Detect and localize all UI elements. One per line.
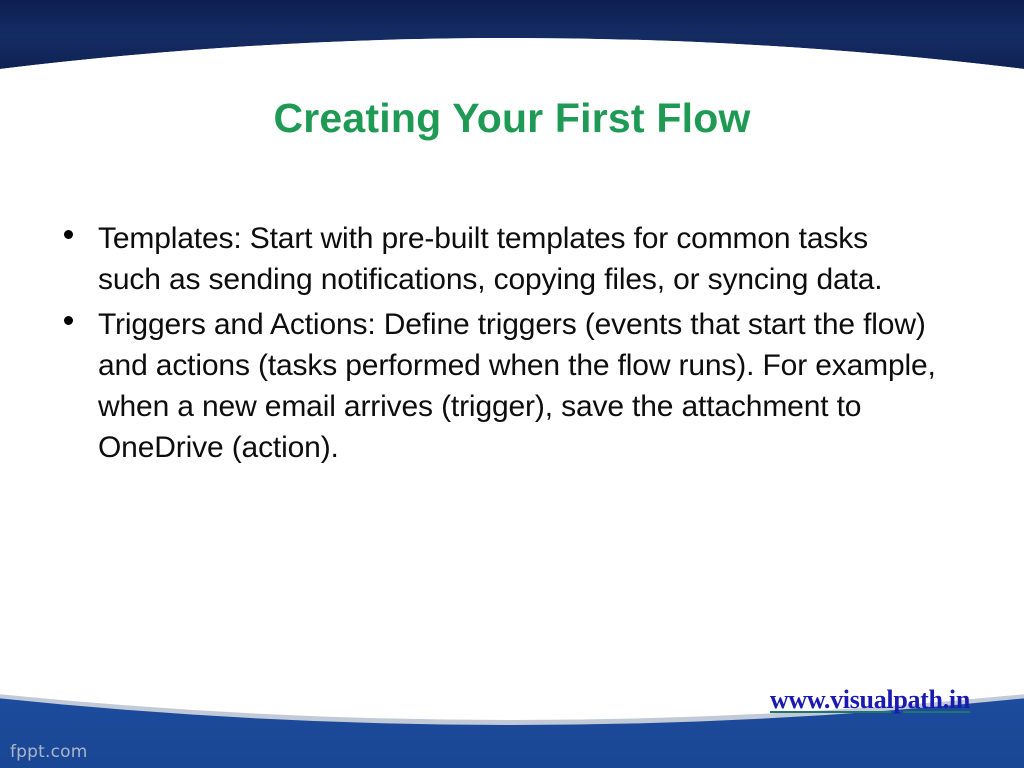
page-title: Creating Your First Flow bbox=[0, 95, 1024, 142]
bullet-dot-icon bbox=[64, 230, 73, 239]
slide-content: Creating Your First Flow Templates: Star… bbox=[0, 0, 1024, 768]
list-item-text: Templates: Start with pre-built template… bbox=[98, 218, 928, 300]
list-item: Templates: Start with pre-built template… bbox=[56, 218, 956, 300]
website-link[interactable]: www.visualpath.in bbox=[770, 685, 970, 715]
bullet-dot-icon bbox=[64, 316, 73, 325]
list-item: Triggers and Actions: Define triggers (e… bbox=[56, 304, 956, 468]
list-item-text: Triggers and Actions: Define triggers (e… bbox=[98, 304, 956, 468]
bullet-list: Templates: Start with pre-built template… bbox=[56, 218, 956, 472]
presentation-slide: fppt.com Creating Your First Flow Templa… bbox=[0, 0, 1024, 768]
